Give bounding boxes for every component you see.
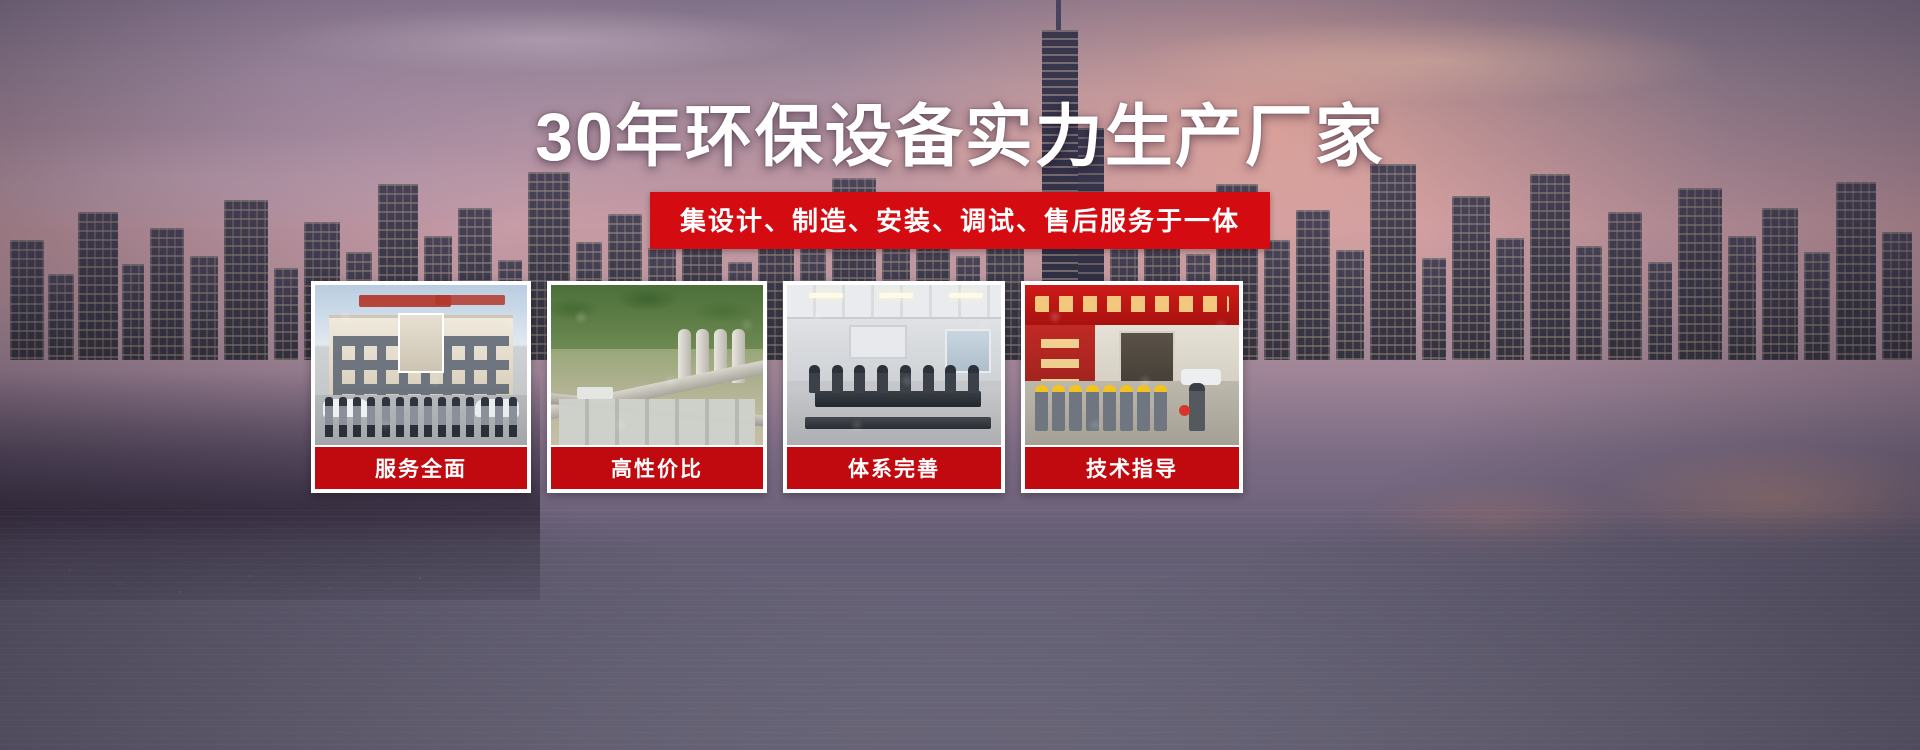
card-photo <box>315 285 527 453</box>
card-photo <box>787 285 1001 453</box>
feature-card[interactable]: 技术指导 <box>1021 281 1243 493</box>
red-factory-banner <box>1025 285 1239 325</box>
feature-card-list: 服务全面 高性价比 <box>311 281 1611 496</box>
card-photo <box>1025 285 1239 453</box>
feature-card[interactable]: 高性价比 <box>547 281 767 493</box>
feature-card[interactable]: 服务全面 <box>311 281 531 493</box>
hero-banner: 30年环保设备实力生产厂家 集设计、制造、安装、调试、售后服务于一体 <box>0 0 1920 750</box>
subtitle-badge: 集设计、制造、安装、调试、售后服务于一体 <box>650 192 1270 249</box>
card-caption: 服务全面 <box>315 445 527 489</box>
banner-content: 30年环保设备实力生产厂家 集设计、制造、安装、调试、售后服务于一体 <box>0 0 1920 750</box>
card-caption: 技术指导 <box>1025 445 1239 489</box>
page-title: 30年环保设备实力生产厂家 <box>0 103 1920 171</box>
card-caption: 高性价比 <box>551 445 763 489</box>
subtitle-container: 集设计、制造、安装、调试、售后服务于一体 <box>0 192 1920 249</box>
feature-card[interactable]: 体系完善 <box>783 281 1005 493</box>
company-phone-sign <box>435 295 505 305</box>
card-caption: 体系完善 <box>787 445 1001 489</box>
card-photo <box>551 285 763 453</box>
